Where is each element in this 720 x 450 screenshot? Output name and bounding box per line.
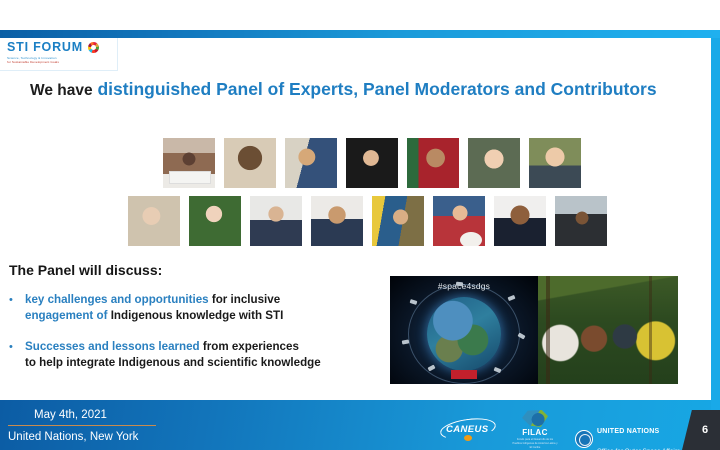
satellite-icon	[456, 282, 463, 287]
logo-wordmark: STI FORUM	[7, 41, 83, 54]
bullet-marker-icon: •	[9, 339, 25, 372]
panelist-headshot[interactable]	[163, 138, 215, 188]
logo-row: STI FORUM	[7, 41, 117, 54]
logo-subtitle-line-2: for Sustainable Development Goals	[7, 60, 59, 64]
satellite-icon	[410, 299, 418, 305]
people-in-forest-image[interactable]	[538, 276, 678, 384]
bullet-highlight: Successes and lessons learned	[25, 340, 203, 353]
list-item: • key challenges and opportunities for i…	[9, 292, 369, 325]
media-image-pair: #space4sdgs	[390, 276, 678, 384]
panelist-headshot[interactable]	[346, 138, 398, 188]
footer-date: May 4th, 2021	[34, 409, 107, 421]
panel-section-heading: The Panel will discuss:	[9, 262, 162, 278]
bullet-highlight: engagement of	[25, 309, 111, 322]
panelist-headshot[interactable]	[468, 138, 520, 188]
bullet-plain: to help integrate Indigenous and scienti…	[25, 356, 321, 369]
header-gradient-bar	[0, 30, 720, 38]
panelist-headshot[interactable]	[372, 196, 424, 246]
filac-subtitle: Fondo para el Desarrollo de los Pueblos …	[512, 438, 558, 450]
earth-globe-icon	[427, 297, 501, 371]
panelist-headshot[interactable]	[555, 196, 607, 246]
un-name: UNITED NATIONS	[597, 428, 659, 435]
panelist-headshot[interactable]	[250, 196, 302, 246]
slide-root: STI FORUM Science, Technology & Innovati…	[0, 0, 720, 450]
headline-emphasis: distinguished Panel of Experts, Panel Mo…	[97, 79, 656, 99]
filac-map-icon	[522, 410, 548, 427]
bullet-marker-icon: •	[9, 292, 25, 325]
united-nations-logo[interactable]: UNITED NATIONS Office for Outer Space Af…	[575, 419, 680, 450]
caneus-dot-icon	[464, 435, 472, 441]
panelist-headshot[interactable]	[529, 138, 581, 188]
un-emblem-icon	[575, 430, 593, 448]
caneus-logo[interactable]: CANEUS	[438, 418, 498, 442]
filac-wordmark: FILAC	[512, 428, 558, 437]
bullet-text: Successes and lessons learned from exper…	[25, 339, 321, 372]
panel-bullet-list: • key challenges and opportunities for i…	[9, 292, 369, 386]
list-item: • Successes and lessons learned from exp…	[9, 339, 369, 372]
panelist-headshot[interactable]	[189, 196, 241, 246]
logo-subtitle: Science, Technology & Innovation for Sus…	[7, 56, 111, 65]
headline-lead: We have	[30, 82, 93, 99]
un-logo-text: UNITED NATIONS Office for Outer Space Af…	[597, 419, 680, 450]
panelist-headshot[interactable]	[128, 196, 180, 246]
panelist-headshot[interactable]	[433, 196, 485, 246]
caneus-wordmark: CANEUS	[446, 424, 489, 435]
satellite-icon	[508, 295, 516, 301]
page-title: We have distinguished Panel of Experts, …	[30, 79, 700, 100]
panelist-headshot[interactable]	[311, 196, 363, 246]
image-watermark-badge	[451, 370, 477, 379]
bullet-highlight: key challenges and opportunities	[25, 293, 212, 306]
footer-location: United Nations, New York	[8, 431, 138, 443]
panelist-headshot[interactable]	[494, 196, 546, 246]
sdg-color-wheel-icon	[88, 42, 99, 53]
bullet-plain: Indigenous knowledge with STI	[111, 309, 284, 322]
filac-logo[interactable]: FILAC Fondo para el Desarrollo de los Pu…	[512, 410, 558, 444]
sti-forum-logo[interactable]: STI FORUM Science, Technology & Innovati…	[0, 38, 118, 71]
panelist-photo-row-2	[128, 196, 607, 246]
bullet-plain: from experiences	[203, 340, 299, 353]
logo-subtitle-line-1: Science, Technology & Innovation	[7, 56, 57, 60]
earth-with-satellites-image[interactable]: #space4sdgs	[390, 276, 538, 384]
panelist-photo-row-1	[163, 138, 581, 188]
bullet-text: key challenges and opportunities for inc…	[25, 292, 283, 325]
panelist-headshot[interactable]	[407, 138, 459, 188]
panelist-headshot[interactable]	[285, 138, 337, 188]
bullet-plain: for inclusive	[212, 293, 280, 306]
footer-divider	[8, 425, 156, 426]
panelist-headshot[interactable]	[224, 138, 276, 188]
